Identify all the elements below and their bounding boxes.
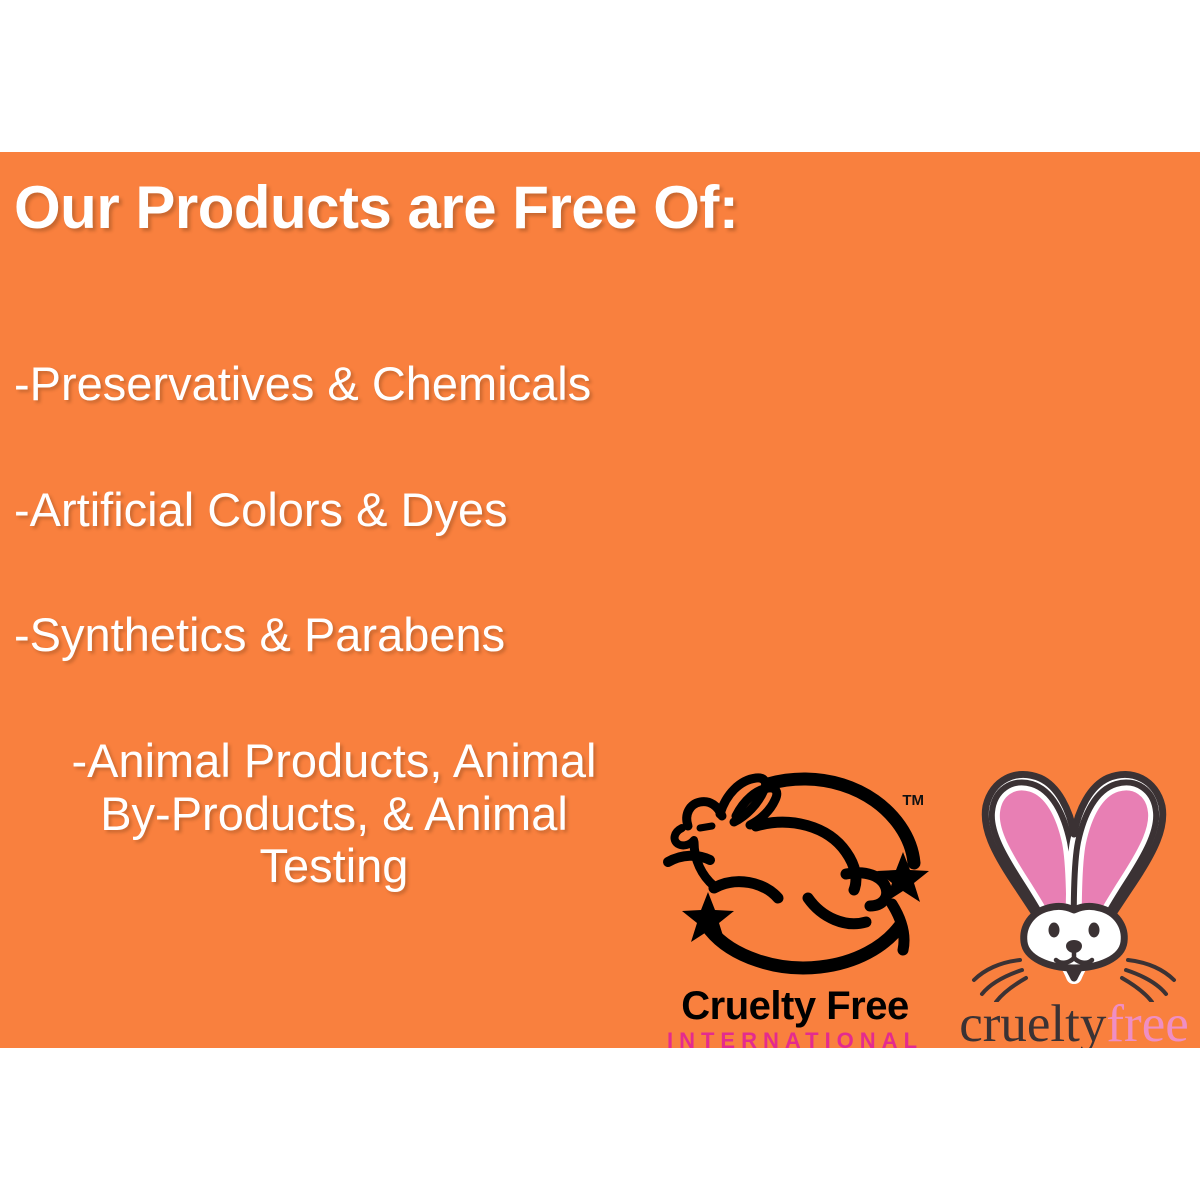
- poster-canvas: Our Products are Free Of: -Preservatives…: [0, 0, 1200, 1200]
- cfi-wordmark: Cruelty Free: [660, 986, 930, 1026]
- list-item-line: Testing: [14, 840, 654, 893]
- list-item-line: -Animal Products, Animal: [14, 735, 654, 788]
- cruelty-free-international-logo: TM Cruelty Free INTERNATIONAL: [660, 764, 930, 1048]
- list-item-line: By-Products, & Animal: [14, 788, 654, 841]
- wordmark-part-free: free: [1106, 995, 1188, 1048]
- list-item: -Artificial Colors & Dyes: [14, 484, 674, 537]
- leaping-rabbit-icon: [660, 764, 930, 986]
- free-of-list: -Preservatives & Chemicals -Artificial C…: [14, 358, 674, 893]
- cruelty-free-wordmark: crueltyfree: [948, 998, 1200, 1048]
- trademark-symbol: TM: [902, 792, 924, 809]
- wordmark-part-cruelty: cruelty: [959, 995, 1106, 1048]
- orange-banner-panel: Our Products are Free Of: -Preservatives…: [0, 152, 1200, 1048]
- cfi-subtitle: INTERNATIONAL: [660, 1030, 930, 1048]
- page-title: Our Products are Free Of:: [14, 176, 1014, 239]
- certification-logos: TM Cruelty Free INTERNATIONAL: [660, 764, 1200, 1048]
- cruelty-free-logo: crueltyfree: [948, 762, 1200, 1048]
- list-item: -Preservatives & Chemicals: [14, 358, 674, 411]
- list-item: -Animal Products, Animal By-Products, & …: [14, 735, 654, 893]
- bunny-heart-ears-icon: [948, 762, 1200, 1002]
- list-item: -Synthetics & Parabens: [14, 609, 674, 662]
